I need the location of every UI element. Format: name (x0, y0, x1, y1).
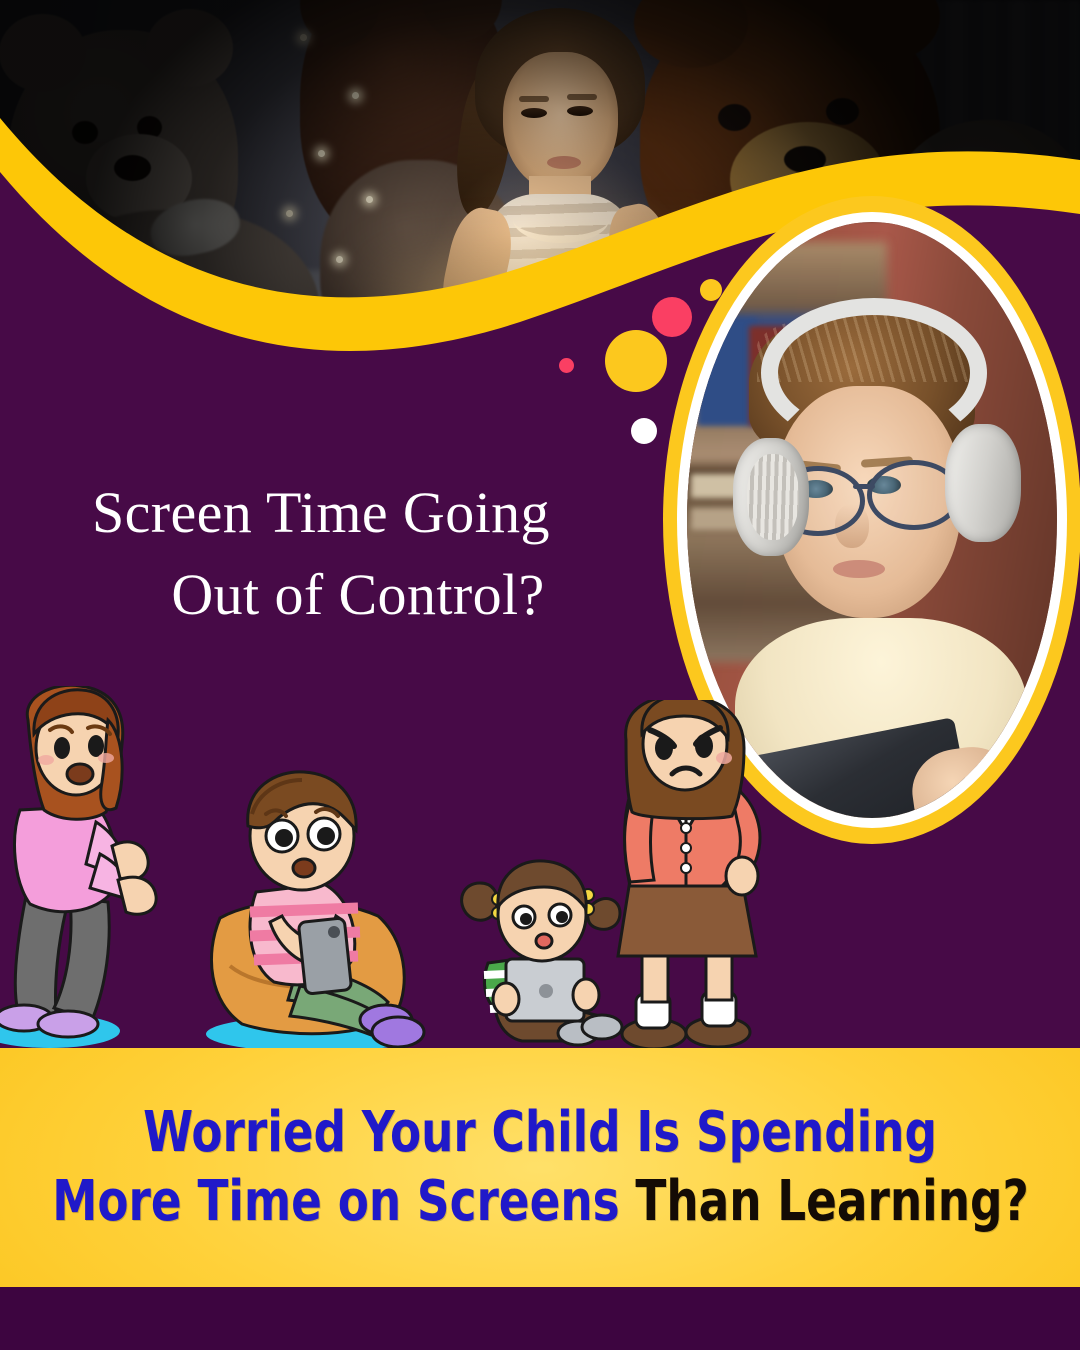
angry-mother-cartoon (596, 700, 776, 1052)
promo-poster: Screen Time Going Out of Control? (0, 0, 1080, 1350)
dot-yellow-large (605, 330, 667, 392)
headline-line-1: Screen Time Going (92, 472, 672, 554)
boy-on-beanbag-cartoon (182, 770, 432, 1052)
headphones-band (761, 298, 987, 448)
banner-line-2: More Time on Screens Than Learning? (52, 1168, 1029, 1236)
banner-line-2-black: Than Learning? (635, 1169, 1028, 1234)
headphone-cup-right (945, 424, 1021, 542)
headline: Screen Time Going Out of Control? (92, 472, 672, 637)
banner-line-1: Worried Your Child Is Spending (143, 1099, 937, 1167)
headline-line-2: Out of Control? (92, 554, 672, 636)
bottom-banner: Worried Your Child Is Spending More Time… (0, 1048, 1080, 1287)
dot-pink-tiny (559, 358, 574, 373)
banner-line-2-blue: More Time on Screens (52, 1169, 635, 1234)
dot-white-medium (631, 418, 657, 444)
footer-strip (0, 1287, 1080, 1350)
